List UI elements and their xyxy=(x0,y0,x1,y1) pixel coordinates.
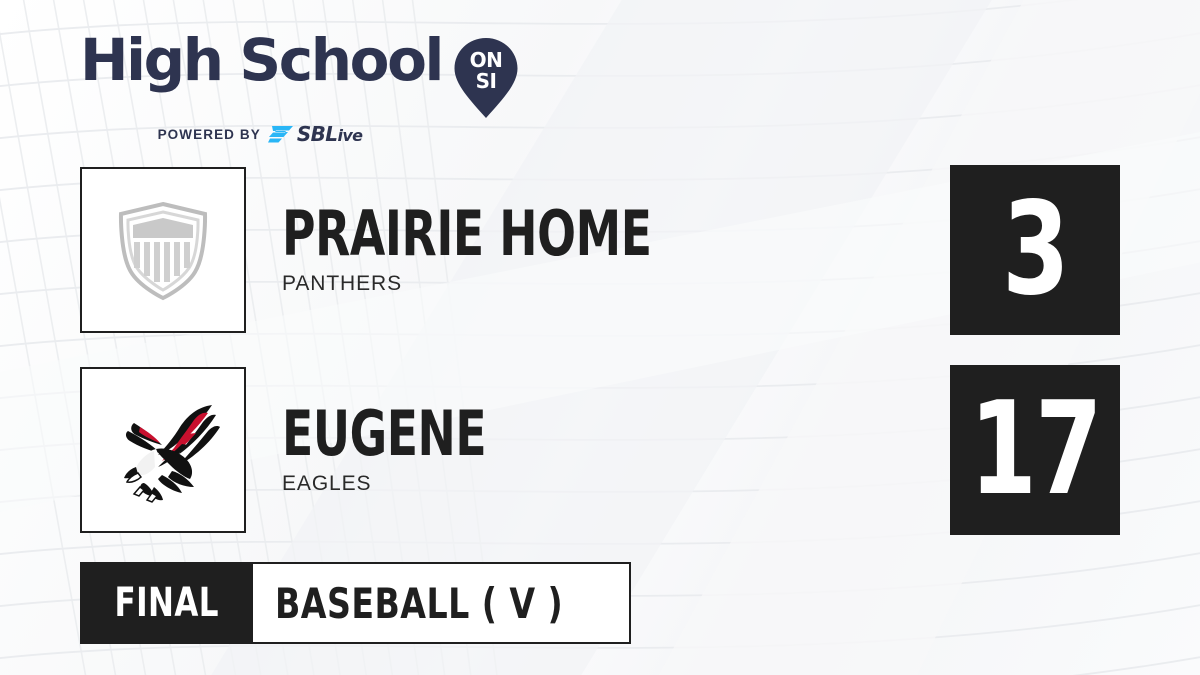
eagle-mascot-icon xyxy=(100,387,226,513)
team-score: 17 xyxy=(969,386,1100,514)
team-logo-container xyxy=(80,167,246,333)
sblive-word-main: SBL xyxy=(297,122,338,146)
team-name: PRAIRIE HOME xyxy=(282,204,830,265)
team-score-box: 17 xyxy=(950,365,1120,535)
brand-header: High School ON SI POWERED BY xyxy=(80,34,510,134)
team-logo-container xyxy=(80,367,246,533)
team-score-box: 3 xyxy=(950,165,1120,335)
status-badge-label: FINAL xyxy=(114,580,218,626)
sport-label: BASEBALL ( V ) xyxy=(275,579,563,628)
status-badge: FINAL xyxy=(80,562,253,644)
team-score: 3 xyxy=(1002,186,1068,314)
game-status-bar: FINAL BASEBALL ( V ) xyxy=(80,562,631,644)
team-row: PRAIRIE HOME PANTHERS 3 xyxy=(80,165,1120,335)
pin-line-2: SI xyxy=(476,69,497,93)
sblive-wordmark: SBLive xyxy=(297,122,363,146)
sport-label-panel: BASEBALL ( V ) xyxy=(253,562,630,644)
brand-lockup: High School ON SI xyxy=(80,34,510,120)
team-info: EUGENE EAGLES xyxy=(282,404,950,497)
team-mascot: PANTHERS xyxy=(282,272,950,296)
powered-by-label: POWERED BY xyxy=(158,127,261,142)
brand-wordmark: High School xyxy=(80,34,442,87)
sblive-s-mark-icon xyxy=(268,125,294,143)
map-pin-onsi-icon: ON SI xyxy=(450,36,522,120)
powered-by-lockup: POWERED BY SBLive xyxy=(80,122,440,146)
sblive-logo: SBLive xyxy=(268,122,363,146)
team-name: EUGENE xyxy=(282,404,830,465)
team-mascot: EAGLES xyxy=(282,472,950,496)
team-row: EUGENE EAGLES 17 xyxy=(80,365,1120,535)
team-info: PRAIRIE HOME PANTHERS xyxy=(282,204,950,297)
sblive-word-tail: ive xyxy=(337,126,362,145)
generic-shield-placeholder-icon xyxy=(107,194,219,306)
score-graphic: High School ON SI POWERED BY xyxy=(0,0,1200,675)
